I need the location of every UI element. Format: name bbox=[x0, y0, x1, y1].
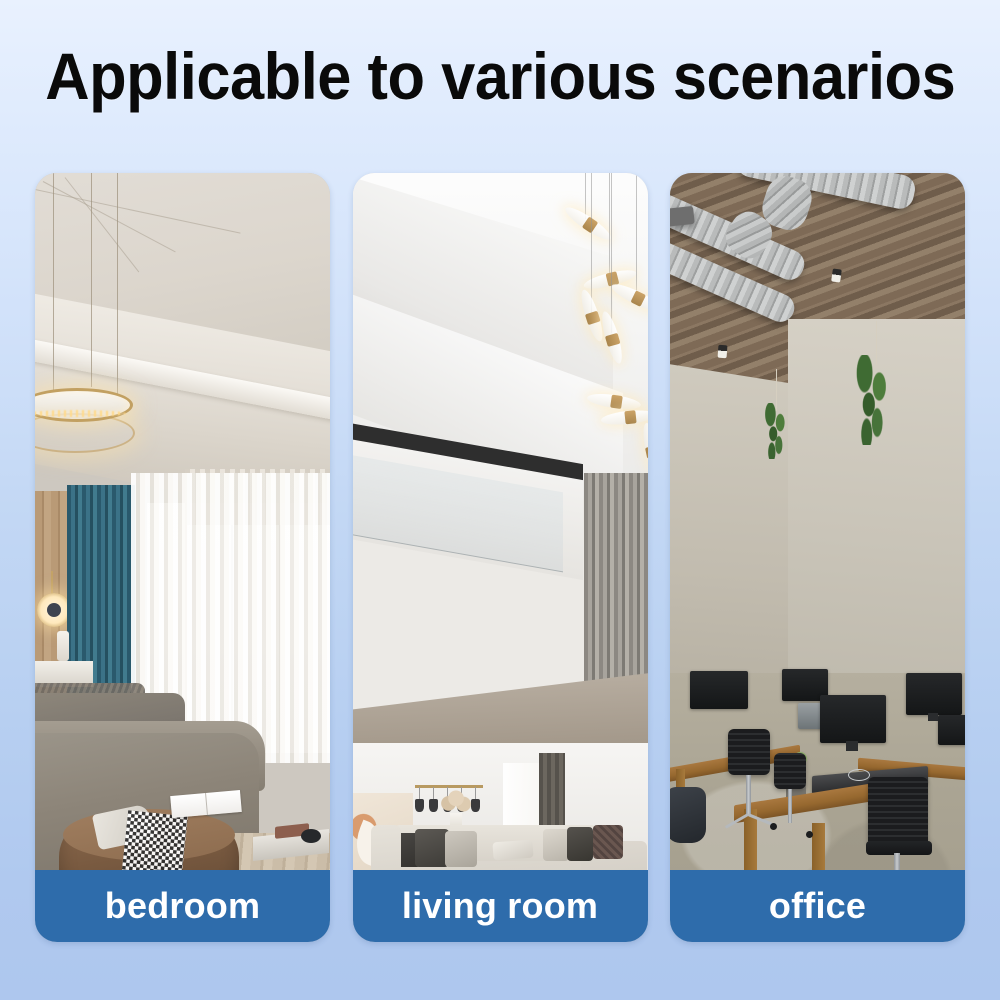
scenario-cards: bedroom bbox=[35, 173, 965, 942]
ceiling-spotlight bbox=[831, 268, 842, 282]
cushion bbox=[492, 840, 533, 861]
chandelier-wire bbox=[91, 173, 92, 387]
office-label-band: office bbox=[670, 870, 965, 942]
cushion bbox=[445, 831, 477, 867]
office-scene bbox=[670, 173, 965, 870]
chair-post bbox=[788, 789, 792, 823]
pendant-wire bbox=[475, 787, 476, 799]
hanging-plant bbox=[762, 403, 790, 459]
desk-leg bbox=[812, 823, 825, 870]
office-chair-back bbox=[774, 753, 806, 789]
office-photo bbox=[670, 173, 965, 870]
pendant-wire bbox=[609, 173, 610, 277]
monitor bbox=[938, 715, 965, 745]
scenario-card-bedroom[interactable]: bedroom bbox=[35, 173, 330, 942]
living-room-scene bbox=[353, 173, 648, 870]
living-room-photo bbox=[353, 173, 648, 870]
pendant-wire bbox=[636, 173, 637, 295]
cushion bbox=[415, 829, 449, 867]
bedroom-photo bbox=[35, 173, 330, 870]
chair-post bbox=[894, 853, 900, 870]
page-title-wrap: Applicable to various scenarios bbox=[0, 38, 1000, 114]
houndstooth-throw bbox=[118, 810, 188, 870]
living-room-label: living room bbox=[402, 886, 598, 926]
bedroom-scene bbox=[35, 173, 330, 870]
chandelier-wire bbox=[53, 173, 54, 391]
dining-pendant bbox=[415, 799, 424, 812]
cushion bbox=[593, 825, 623, 859]
office-chair-back bbox=[868, 777, 928, 847]
chair-caster bbox=[770, 823, 777, 830]
bedroom-label: bedroom bbox=[105, 886, 260, 926]
office-label: office bbox=[769, 886, 866, 926]
sofa-arm bbox=[371, 825, 401, 870]
hanging-plant bbox=[852, 355, 894, 445]
pendant-wire bbox=[585, 173, 586, 219]
pendant-wire bbox=[419, 787, 420, 799]
pendant-wire bbox=[433, 787, 434, 799]
chair-post bbox=[746, 775, 751, 815]
dining-pendant bbox=[429, 799, 438, 812]
page-title: Applicable to various scenarios bbox=[45, 38, 955, 114]
cushion bbox=[567, 827, 593, 861]
pendant-wire bbox=[591, 173, 592, 313]
cable-loop bbox=[848, 769, 870, 781]
flower-arrangement bbox=[439, 783, 473, 817]
headphones bbox=[301, 829, 321, 843]
monitor bbox=[690, 671, 748, 709]
bedroom-label-band: bedroom bbox=[35, 870, 330, 942]
ceiling-spotlight bbox=[718, 345, 728, 359]
scenario-card-living-room[interactable]: living room bbox=[353, 173, 648, 942]
monitor-stand bbox=[928, 713, 938, 721]
pendant-wire bbox=[611, 173, 612, 333]
monitor bbox=[820, 695, 886, 743]
chair-caster bbox=[806, 831, 813, 838]
living-room-label-band: living room bbox=[353, 870, 648, 942]
chandelier-wire bbox=[117, 173, 118, 395]
wall-sconce bbox=[37, 593, 71, 627]
vase bbox=[57, 631, 69, 661]
backpack bbox=[670, 787, 706, 843]
cushion bbox=[543, 829, 569, 861]
monitor bbox=[906, 673, 962, 715]
office-chair-back bbox=[728, 729, 770, 775]
monitor-stand bbox=[846, 741, 858, 751]
scenario-card-office[interactable]: office bbox=[670, 173, 965, 942]
